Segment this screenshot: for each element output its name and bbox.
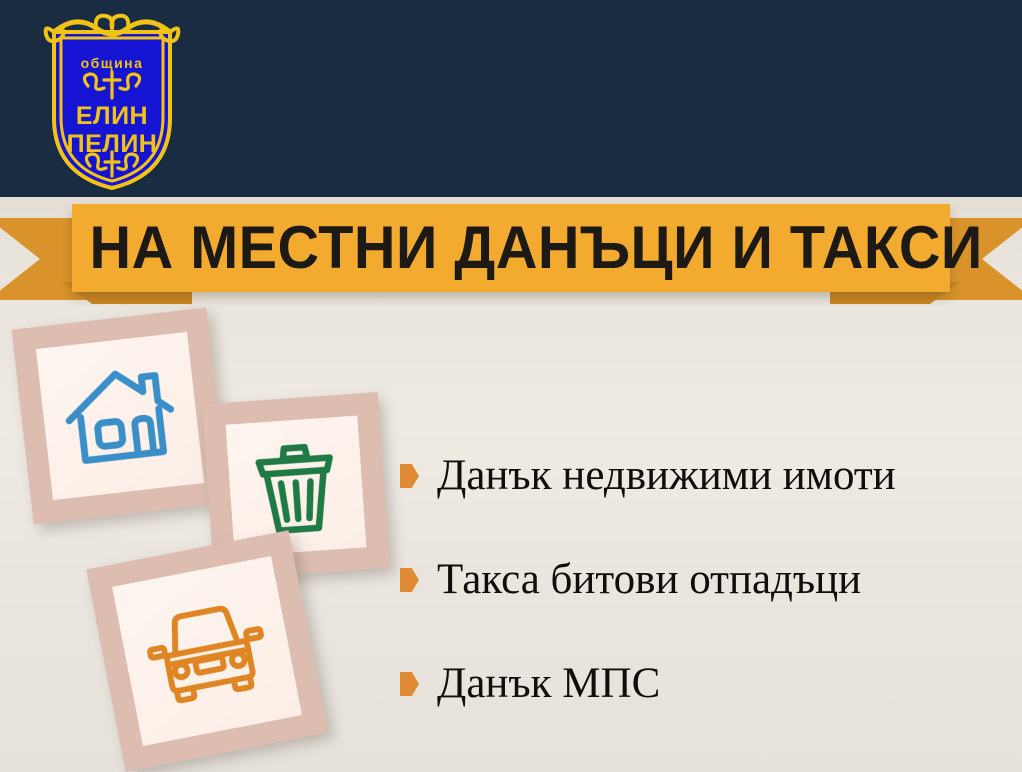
list-item[interactable]: Такса битови отпадъци [400,528,1012,632]
svg-text:ЕЛИН: ЕЛИН [76,102,148,130]
car-front-icon [86,530,328,772]
stamp-card-vehicle [86,530,328,772]
list-item-label: Данък недвижими имоти [437,453,896,498]
poster-canvas: ПРОВЕРКА И ПЛАЩАНЕ НА ЗАДЪЛЖЕНИЯ община [0,0,1022,772]
svg-text:община: община [81,55,144,71]
stamp-card-house [12,308,229,525]
arrow-bullet-icon [400,672,419,696]
list-item[interactable]: Данък МПС [400,632,1012,736]
tax-type-list: Данък недвижими имоти Такса битови отпад… [400,424,1012,736]
ribbon-banner: НА МЕСТНИ ДАНЪЦИ И ТАКСИ [0,196,1022,311]
coat-of-arms-icon: община ЕЛИН ПЕЛИН [36,6,188,194]
arrow-bullet-icon [400,464,419,488]
ribbon-main-panel: НА МЕСТНИ ДАНЪЦИ И ТАКСИ [72,204,950,292]
list-item[interactable]: Данък недвижими имоти [400,424,1012,528]
ribbon-label: НА МЕСТНИ ДАНЪЦИ И ТАКСИ [90,213,933,283]
list-item-label: Такса битови отпадъци [437,557,861,602]
list-item-label: Данък МПС [437,661,660,706]
arrow-bullet-icon [400,568,419,592]
house-icon [12,308,229,525]
